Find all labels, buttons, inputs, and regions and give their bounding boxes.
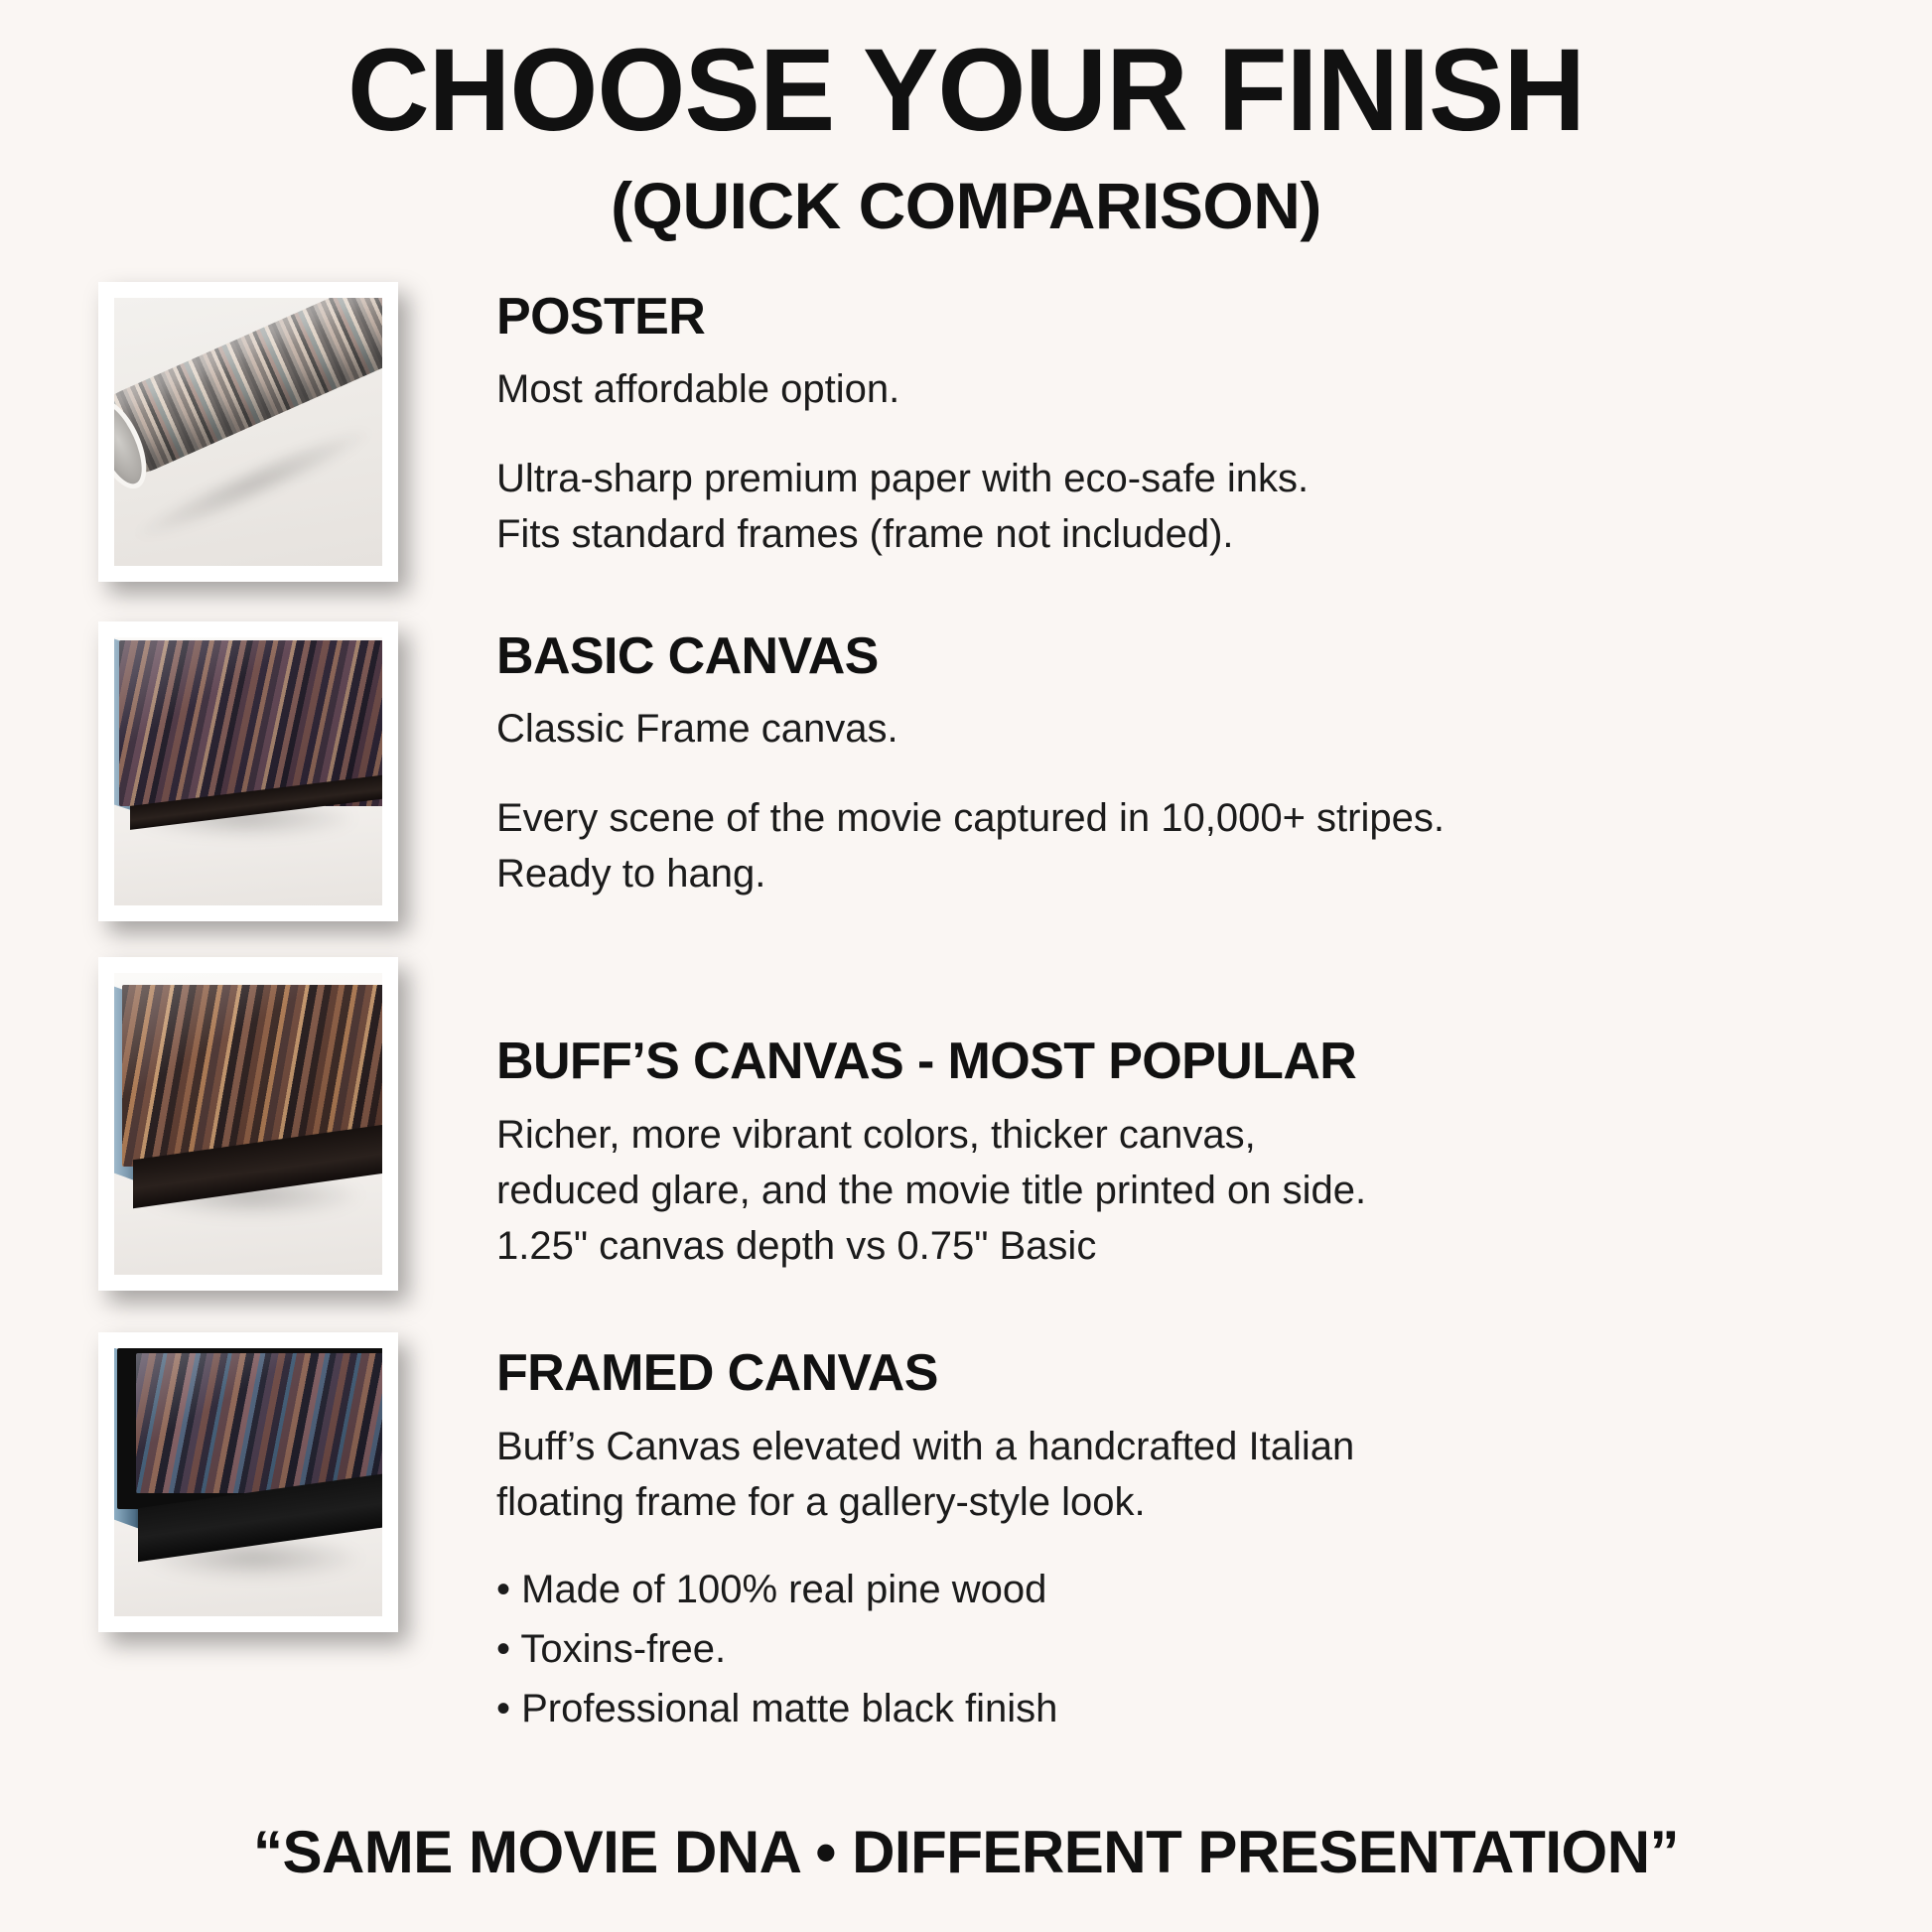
text-col-basic-canvas: BASIC CANVAS Classic Frame canvas. Every… (496, 621, 1932, 901)
product-title-buffs-canvas: BUFF’S CANVAS - MOST POPULAR (496, 1033, 1932, 1091)
finish-comparison-page: CHOOSE YOUR FINISH (QUICK COMPARISON) PO… (0, 0, 1932, 1932)
body-line: Fits standard frames (frame not included… (496, 506, 1932, 562)
product-row-basic-canvas: BASIC CANVAS Classic Frame canvas. Every… (0, 621, 1932, 921)
list-item: • Made of 100% real pine wood (496, 1560, 1932, 1619)
body-line: 1.25" canvas depth vs 0.75" Basic (496, 1218, 1932, 1274)
product-tagline-poster: Most affordable option. (496, 362, 1932, 417)
product-title-poster: POSTER (496, 288, 1932, 346)
text-col-buffs-canvas: BUFF’S CANVAS - MOST POPULAR Richer, mor… (496, 957, 1932, 1274)
list-item: • Toxins-free. (496, 1619, 1932, 1679)
buffs-canvas-photo-inner (114, 973, 382, 1275)
framed-canvas-gloss (136, 1353, 382, 1492)
basic-canvas-photo-inner (114, 637, 382, 905)
body-line: reduced glare, and the movie title print… (496, 1163, 1932, 1218)
basic-canvas-photo[interactable] (98, 621, 398, 921)
body-line: Ready to hang. (496, 846, 1932, 901)
thumb-col-poster (0, 282, 496, 582)
footer-tagline: “SAME MOVIE DNA • DIFFERENT PRESENTATION… (0, 1818, 1932, 1886)
page-subtitle: (QUICK COMPARISON) (0, 170, 1932, 242)
poster-roll-photo-inner (114, 298, 382, 566)
thumb-col-basic-canvas (0, 621, 496, 921)
buffs-canvas-photo[interactable] (98, 957, 398, 1291)
product-body-framed-canvas: Buff’s Canvas elevated with a handcrafte… (496, 1419, 1932, 1530)
framed-canvas-photo-inner (114, 1348, 382, 1616)
product-row-poster: POSTER Most affordable option. Ultra-sha… (0, 282, 1932, 582)
product-title-framed-canvas: FRAMED CANVAS (496, 1344, 1932, 1403)
product-row-framed-canvas: FRAMED CANVAS Buff’s Canvas elevated wit… (0, 1332, 1932, 1738)
poster-roll-photo[interactable] (98, 282, 398, 582)
product-body-buffs-canvas: Richer, more vibrant colors, thicker can… (496, 1107, 1932, 1274)
page-header: CHOOSE YOUR FINISH (QUICK COMPARISON) (0, 0, 1932, 242)
framed-canvas-bullet-list: • Made of 100% real pine wood • Toxins-f… (496, 1560, 1932, 1738)
page-title: CHOOSE YOUR FINISH (29, 28, 1903, 154)
framed-canvas-art-face (136, 1353, 382, 1492)
product-row-buffs-canvas: BUFF’S CANVAS - MOST POPULAR Richer, mor… (0, 957, 1932, 1291)
body-line: Buff’s Canvas elevated with a handcrafte… (496, 1419, 1932, 1474)
text-col-poster: POSTER Most affordable option. Ultra-sha… (496, 282, 1932, 562)
body-line: Every scene of the movie captured in 10,… (496, 790, 1932, 846)
text-col-framed-canvas: FRAMED CANVAS Buff’s Canvas elevated wit… (496, 1332, 1932, 1738)
product-list: POSTER Most affordable option. Ultra-sha… (0, 282, 1932, 1738)
framed-canvas-photo[interactable] (98, 1332, 398, 1632)
product-title-basic-canvas: BASIC CANVAS (496, 627, 1932, 686)
product-body-basic-canvas: Every scene of the movie captured in 10,… (496, 790, 1932, 901)
body-line: floating frame for a gallery-style look. (496, 1474, 1932, 1530)
list-item: • Professional matte black finish (496, 1679, 1932, 1738)
thumb-col-buffs-canvas (0, 957, 496, 1291)
thumb-col-framed-canvas (0, 1332, 496, 1632)
product-body-poster: Ultra-sharp premium paper with eco-safe … (496, 451, 1932, 562)
body-line: Ultra-sharp premium paper with eco-safe … (496, 451, 1932, 506)
body-line: Richer, more vibrant colors, thicker can… (496, 1107, 1932, 1163)
product-tagline-basic-canvas: Classic Frame canvas. (496, 702, 1932, 757)
